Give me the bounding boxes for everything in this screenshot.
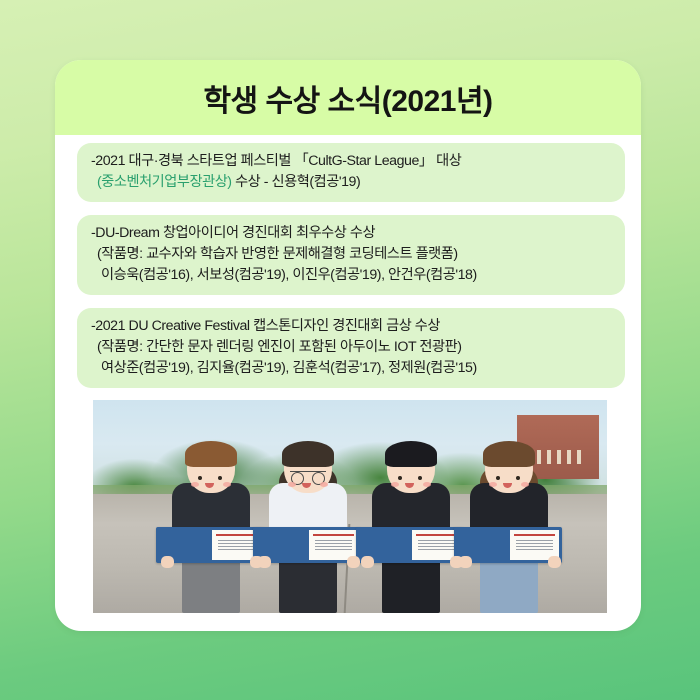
student-4-cheek-left [489, 482, 497, 487]
student-2-hand-left [258, 556, 271, 568]
award-list: -2021 대구·경북 스타트업 페스티벌 「CultG-Star League… [77, 143, 625, 401]
student-3-hair [385, 441, 437, 467]
award-3-recipients: 여상준(컴공'19), 김지율(컴공'19), 김훈석(컴공'17), 정제원(… [91, 358, 611, 379]
photo-student-3 [360, 447, 464, 613]
award-2-heading: -DU-Dream 창업아이디어 경진대회 최우수상 수상 [91, 223, 611, 244]
student-1-hair [185, 441, 237, 467]
photo-student-4 [458, 447, 562, 613]
page-title: 학생 수상 소식(2021년) [203, 76, 492, 120]
student-2-hand-right [347, 556, 360, 568]
announcement-card: 학생 수상 소식(2021년) -2021 대구·경북 스타트업 페스티벌 「C… [55, 60, 641, 631]
student-4-cheek-right [521, 482, 529, 487]
student-1-eye-right [218, 476, 222, 480]
photo-student-2 [257, 447, 361, 613]
student-2-hair [282, 441, 334, 467]
award-group-photo [93, 400, 607, 613]
award-1-highlight: (중소벤처기업부장관상) [97, 174, 232, 190]
student-3-cheek-right [423, 482, 431, 487]
student-4-hand-right [548, 556, 561, 568]
student-4-hair [483, 441, 535, 467]
student-3-cheek-left [391, 482, 399, 487]
award-item-3[interactable]: -2021 DU Creative Festival 캡스톤디자인 경진대회 금… [77, 308, 625, 388]
award-1-detail: (중소벤처기업부장관상) 수상 - 신용혁(컴공'19) [91, 172, 611, 193]
award-item-1[interactable]: -2021 대구·경북 스타트업 페스티벌 「CultG-Star League… [77, 143, 625, 202]
award-item-2[interactable]: -DU-Dream 창업아이디어 경진대회 최우수상 수상 (작품명: 교수자와… [77, 215, 625, 295]
title-band: 학생 수상 소식(2021년) [55, 60, 641, 135]
student-1-hand-left [161, 556, 174, 568]
student-4-hand-left [459, 556, 472, 568]
photo-student-1 [160, 447, 264, 613]
poster-background: 학생 수상 소식(2021년) -2021 대구·경북 스타트업 페스티벌 「C… [0, 0, 700, 700]
award-3-heading: -2021 DU Creative Festival 캡스톤디자인 경진대회 금… [91, 316, 611, 337]
student-1-cheek-left [191, 482, 199, 487]
award-1-heading: -2021 대구·경북 스타트업 페스티벌 「CultG-Star League… [91, 151, 611, 172]
award-3-project: (작품명: 간단한 문자 렌더링 엔진이 포함된 아두이노 IOT 전광판) [91, 337, 611, 358]
student-1-cheek-right [223, 482, 231, 487]
award-2-project: (작품명: 교수자와 학습자 반영한 문제해결형 코딩테스트 플랫폼) [91, 244, 611, 265]
award-1-recipient: 수상 - 신용혁(컴공'19) [232, 174, 361, 190]
student-1-eye-left [198, 476, 202, 480]
award-2-recipients: 이승욱(컴공'16), 서보성(컴공'19), 이진우(컴공'19), 안건우(… [91, 265, 611, 286]
student-3-hand-left [361, 556, 374, 568]
